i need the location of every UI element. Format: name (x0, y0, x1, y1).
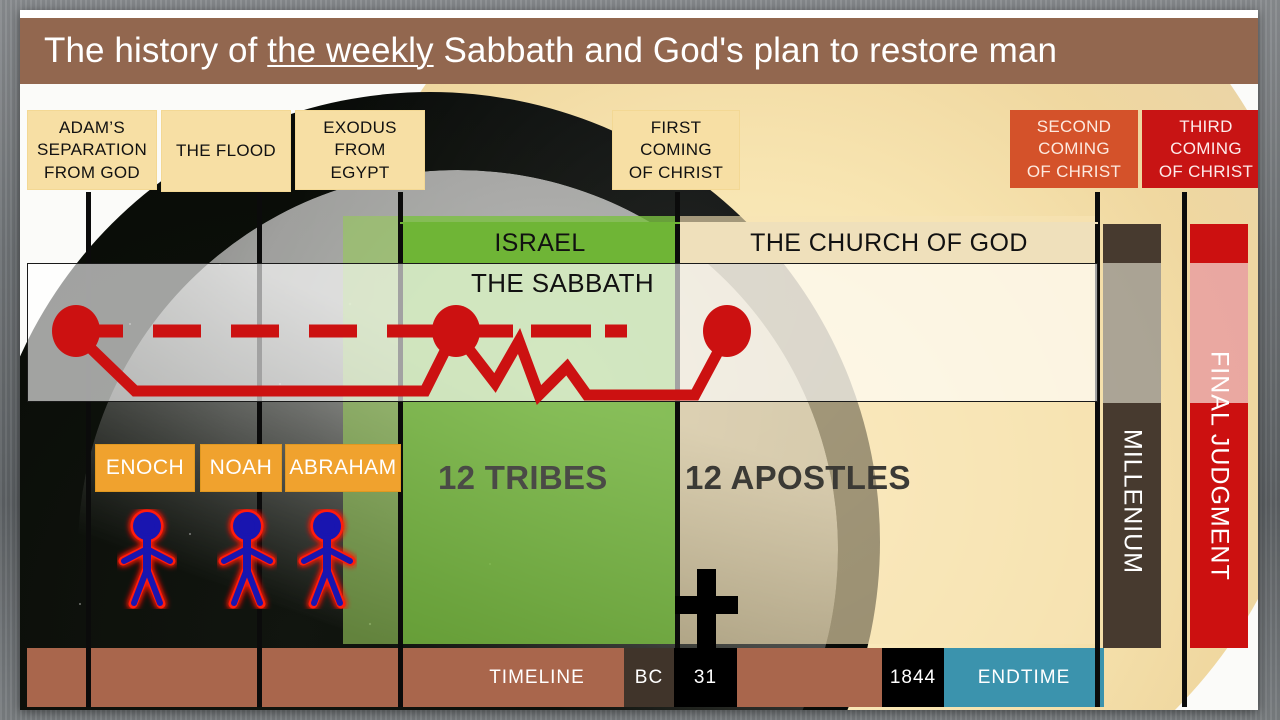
chart-body: ADAM’S SEPARATION FROM GOD THE FLOOD EXO… (20, 84, 1258, 710)
event-label-third-coming[interactable]: THIRD COMING OF CHRIST (1142, 110, 1258, 188)
vertical-bar-label-millenium: MILLENIUM (1103, 356, 1161, 648)
person-icon-enoch (117, 509, 177, 609)
vertical-bar-millenium[interactable]: MILLENIUM (1103, 224, 1161, 648)
timeline-divider-2 (257, 648, 262, 707)
timeline-bar: TIMELINE BC 31 1844 ENDTIME (27, 648, 1098, 707)
title-banner: The history of the weekly Sabbath and Go… (20, 18, 1258, 84)
event-label-exodus-from-egypt[interactable]: EXODUS FROM EGYPT (295, 110, 425, 190)
sabbath-node-creation (52, 305, 100, 357)
event-label-first-coming[interactable]: FIRST COMING OF CHRIST (612, 110, 740, 190)
timeline-segment-year-1844[interactable]: 1844 (882, 648, 944, 707)
tick-exodus (398, 192, 403, 224)
vertical-bar-final-judgment[interactable]: FINAL JUDGMENT (1190, 224, 1248, 648)
tick-third-coming (1182, 192, 1187, 224)
timeline-divider-5 (1182, 648, 1187, 707)
timeline-divider-3 (398, 648, 403, 707)
title-prefix: The history of (44, 31, 267, 70)
band-header-church: THE CHURCH OF GOD (680, 222, 1098, 264)
group-label-apostles: 12 APOSTLES (685, 459, 911, 497)
tick-second-coming (1095, 192, 1100, 224)
timeline-segment-endtime[interactable]: ENDTIME (944, 648, 1104, 707)
tick-the-flood (257, 192, 262, 224)
title-underlined: the weekly (267, 31, 433, 70)
person-icon-noah (217, 509, 277, 609)
event-label-the-flood[interactable]: THE FLOOD (161, 110, 291, 192)
tick-adams-separation (86, 192, 91, 224)
timeline-segment-year-31[interactable]: 31 (674, 648, 737, 707)
timeline-segment-bc[interactable]: BC (624, 648, 674, 707)
page-title: The history of the weekly Sabbath and Go… (20, 31, 1057, 71)
band-header-israel: ISRAEL (400, 222, 680, 264)
timeline-label: TIMELINE (457, 648, 617, 707)
sabbath-node-cross (703, 305, 751, 357)
sabbath-solid-line (77, 331, 727, 395)
timeline-divider-1 (86, 648, 91, 707)
vertical-bar-label-final-judgment: FINAL JUDGMENT (1190, 284, 1248, 648)
slide-canvas: The history of the weekly Sabbath and Go… (20, 10, 1258, 710)
event-label-second-coming[interactable]: SECOND COMING OF CHRIST (1010, 110, 1138, 188)
patriarch-box-abraham[interactable]: ABRAHAM (285, 444, 401, 492)
event-label-adams-separation[interactable]: ADAM’S SEPARATION FROM GOD (27, 110, 157, 190)
timeline-divider-4 (1095, 648, 1100, 707)
group-label-tribes: 12 TRIBES (438, 459, 608, 497)
sabbath-line-graphic (27, 263, 1258, 408)
title-suffix: Sabbath and God's plan to restore man (434, 31, 1057, 70)
person-icon-abraham (297, 509, 357, 609)
patriarch-box-enoch[interactable]: ENOCH (95, 444, 195, 492)
sabbath-node-sinai (432, 305, 480, 357)
tick-first-coming (675, 192, 680, 224)
patriarch-box-noah[interactable]: NOAH (200, 444, 282, 492)
